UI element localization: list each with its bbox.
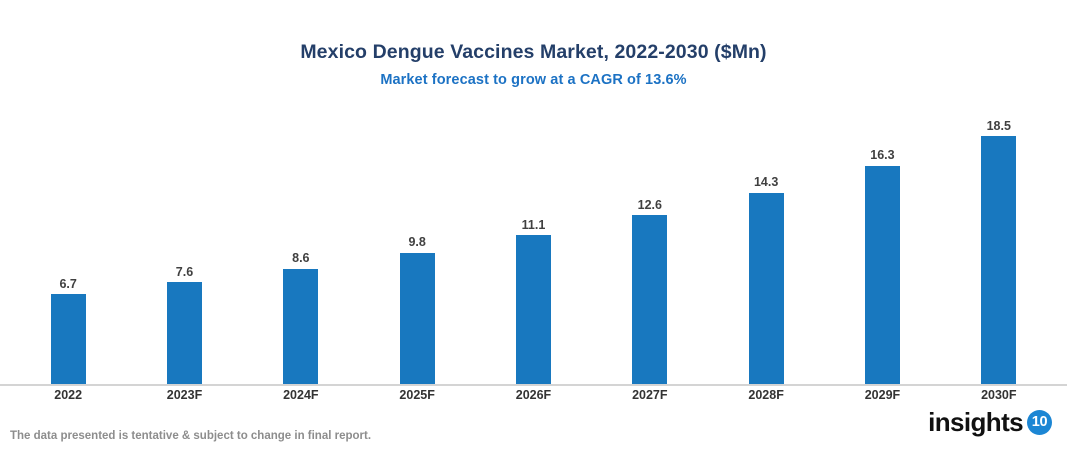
bar-series: 6.77.68.69.811.112.614.316.318.5 xyxy=(10,110,1057,384)
x-axis-tick-label: 2027F xyxy=(592,389,708,402)
bar-slot: 14.3 xyxy=(708,110,824,384)
bar-slot: 6.7 xyxy=(10,110,126,384)
bar-slot: 16.3 xyxy=(824,110,940,384)
chart-container: Mexico Dengue Vaccines Market, 2022-2030… xyxy=(0,0,1067,454)
bar-value-label: 18.5 xyxy=(987,120,1011,133)
bar-slot: 7.6 xyxy=(126,110,242,384)
bar-value-label: 7.6 xyxy=(176,266,193,279)
x-axis-tick-label: 2028F xyxy=(708,389,824,402)
bar xyxy=(981,136,1016,384)
brand-badge-icon: 10 xyxy=(1027,410,1052,435)
x-axis-tick-label: 2022 xyxy=(10,389,126,402)
insights10-logo: insights 10 xyxy=(928,409,1052,435)
chart-title: Mexico Dengue Vaccines Market, 2022-2030… xyxy=(0,40,1067,64)
bar-value-label: 6.7 xyxy=(59,278,76,291)
bar xyxy=(632,215,667,384)
x-axis-tick-label: 2026F xyxy=(475,389,591,402)
bar-value-label: 14.3 xyxy=(754,176,778,189)
x-axis-tick-labels: 20222023F2024F2025F2026F2027F2028F2029F2… xyxy=(10,389,1057,402)
x-axis-tick-label: 2025F xyxy=(359,389,475,402)
bar-slot: 9.8 xyxy=(359,110,475,384)
x-axis-tick-label: 2029F xyxy=(824,389,940,402)
plot-area: 6.77.68.69.811.112.614.316.318.5 xyxy=(10,110,1057,384)
bar-value-label: 16.3 xyxy=(870,149,894,162)
x-axis-tick-label: 2023F xyxy=(126,389,242,402)
title-block: Mexico Dengue Vaccines Market, 2022-2030… xyxy=(0,40,1067,90)
bar xyxy=(865,166,900,384)
bar-value-label: 9.8 xyxy=(408,236,425,249)
x-axis-line xyxy=(0,384,1067,386)
bar-value-label: 8.6 xyxy=(292,252,309,265)
bar xyxy=(400,253,435,384)
bar-value-label: 12.6 xyxy=(638,199,662,212)
bar xyxy=(749,193,784,384)
disclaimer-text: The data presented is tentative & subjec… xyxy=(10,430,371,444)
bar xyxy=(51,294,86,384)
bar-slot: 18.5 xyxy=(941,110,1057,384)
x-axis-tick-label: 2030F xyxy=(941,389,1057,402)
bar-slot: 12.6 xyxy=(592,110,708,384)
bar xyxy=(516,235,551,384)
bar-slot: 11.1 xyxy=(475,110,591,384)
bar-slot: 8.6 xyxy=(243,110,359,384)
bar xyxy=(167,282,202,384)
chart-subtitle: Market forecast to grow at a CAGR of 13.… xyxy=(0,71,1067,89)
bar-value-label: 11.1 xyxy=(522,219,546,232)
x-axis-tick-label: 2024F xyxy=(243,389,359,402)
bar xyxy=(283,269,318,384)
brand-name: insights xyxy=(928,409,1023,435)
